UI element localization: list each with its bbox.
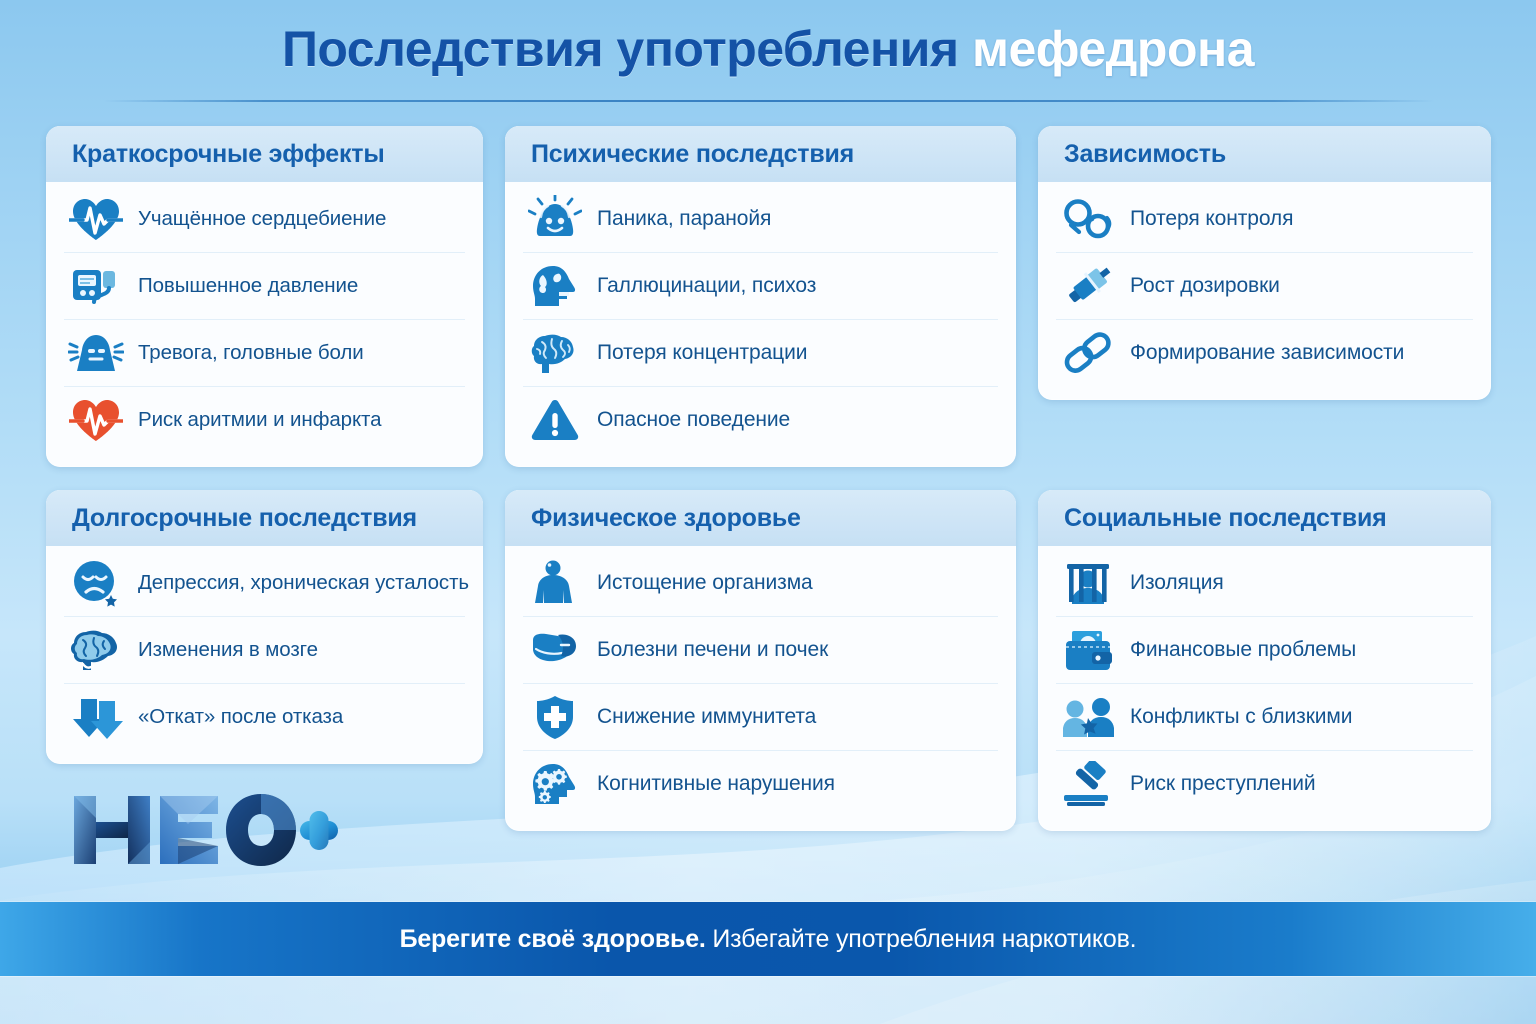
list-item[interactable]: Галлюцинации, психоз <box>523 253 998 320</box>
card-header: Социальные последствия <box>1038 490 1491 546</box>
card-long-term-consequences: Долгосрочные последствия Депрессия, хрон… <box>46 490 483 764</box>
logo-plus-sign <box>300 811 338 850</box>
panic-face-icon <box>527 193 583 245</box>
logo-letter-n <box>74 796 150 864</box>
list-item[interactable]: Потеря концентрации <box>523 320 998 387</box>
syringe-icon <box>1060 260 1116 312</box>
title-primary: Последствия употребления <box>282 21 959 77</box>
list-item[interactable]: Потеря контроля <box>1056 186 1473 253</box>
list-item[interactable]: Депрессия, хроническая усталость <box>64 550 465 617</box>
list-item[interactable]: Риск преступлений <box>1056 751 1473 817</box>
list-item-label: Галлюцинации, психоз <box>597 274 816 298</box>
list-item[interactable]: Финансовые проблемы <box>1056 617 1473 684</box>
list-item[interactable]: Паника, паранойя <box>523 186 998 253</box>
list-item-label: Конфликты с близкими <box>1130 705 1352 729</box>
hallucination-head-icon <box>527 260 583 312</box>
handcuffs-icon <box>1060 193 1116 245</box>
card-header: Психические последствия <box>505 126 1016 182</box>
list-item[interactable]: Изоляция <box>1056 550 1473 617</box>
list-item-label: Риск аритмии и инфаркта <box>138 408 381 432</box>
card-header: Долгосрочные последствия <box>46 490 483 546</box>
card-social-consequences: Социальные последствия <box>1038 490 1491 831</box>
list-item[interactable]: «Откат» после отказа <box>64 684 465 750</box>
card-title: Физическое здоровье <box>531 504 1016 533</box>
logo-letter-o <box>226 794 296 866</box>
card-physical-health: Физическое здоровье Истощение организма <box>505 490 1016 831</box>
card-body: Истощение организма Болезни печени и поч… <box>505 546 1016 831</box>
sad-face-icon <box>68 557 124 609</box>
down-arrows-icon <box>68 691 124 743</box>
shield-cross-icon <box>527 691 583 743</box>
list-item-label: Изоляция <box>1130 571 1224 595</box>
page-title: Последствия употребления мефедрона <box>0 22 1536 76</box>
chain-link-icon <box>1060 327 1116 379</box>
list-item-label: «Откат» после отказа <box>138 705 343 729</box>
list-item-label: Тревога, головные боли <box>138 341 364 365</box>
list-item-label: Формирование зависимости <box>1130 341 1404 365</box>
card-title: Зависимость <box>1064 140 1491 169</box>
list-item[interactable]: Повышенное давление <box>64 253 465 320</box>
card-header: Зависимость <box>1038 126 1491 182</box>
list-item[interactable]: Болезни печени и почек <box>523 617 998 684</box>
list-item-label: Учащённое сердцебиение <box>138 207 386 231</box>
title-divider <box>104 100 1434 102</box>
card-addiction: Зависимость Потеря контроля <box>1038 126 1491 400</box>
list-item[interactable]: Конфликты с близкими <box>1056 684 1473 751</box>
list-item[interactable]: Когнитивные нарушения <box>523 751 998 817</box>
list-item[interactable]: Опасное поведение <box>523 387 998 453</box>
head-gears-icon <box>527 758 583 810</box>
list-item-label: Болезни печени и почек <box>597 638 828 662</box>
list-item-label: Потеря концентрации <box>597 341 807 365</box>
card-short-term-effects: Краткосрочные эффекты Учащённое сердцеби… <box>46 126 483 467</box>
liver-kidney-icon <box>527 624 583 676</box>
person-behind-bars-icon <box>1060 557 1116 609</box>
list-item-label: Изменения в мозге <box>138 638 318 662</box>
list-item-label: Риск преступлений <box>1130 772 1316 796</box>
list-item-label: Паника, паранойя <box>597 207 771 231</box>
title-highlight: мефедрона <box>972 21 1254 77</box>
list-item[interactable]: Риск аритмии и инфаркта <box>64 387 465 453</box>
list-item[interactable]: Рост дозировки <box>1056 253 1473 320</box>
card-header: Физическое здоровье <box>505 490 1016 546</box>
card-title: Социальные последствия <box>1064 504 1491 533</box>
brain-damage-icon <box>68 624 124 676</box>
warning-triangle-icon <box>527 394 583 446</box>
list-item[interactable]: Формирование зависимости <box>1056 320 1473 386</box>
card-body: Потеря контроля Рост дозировки <box>1038 182 1491 400</box>
list-item-label: Когнитивные нарушения <box>597 772 835 796</box>
list-item-label: Депрессия, хроническая усталость <box>138 571 469 595</box>
list-item-label: Истощение организма <box>597 571 813 595</box>
list-item-label: Опасное поведение <box>597 408 790 432</box>
list-item-label: Потеря контроля <box>1130 207 1293 231</box>
heart-pulse-red-icon <box>68 394 124 446</box>
list-item-label: Снижение иммунитета <box>597 705 816 729</box>
brand-logo[interactable] <box>68 790 340 877</box>
list-item-label: Повышенное давление <box>138 274 358 298</box>
gavel-icon <box>1060 758 1116 810</box>
card-title: Краткосрочные эффекты <box>72 140 483 169</box>
heart-pulse-icon <box>68 193 124 245</box>
footer-regular-text: Избегайте употребления наркотиков. <box>712 925 1136 953</box>
blood-pressure-monitor-icon <box>68 260 124 312</box>
card-mental-consequences: Психические последствия <box>505 126 1016 467</box>
card-body: Депрессия, хроническая усталость <box>46 546 483 764</box>
cards-grid: Краткосрочные эффекты Учащённое сердцеби… <box>46 126 1490 831</box>
card-body: Учащённое сердцебиение Повышенное <box>46 182 483 467</box>
logo-letter-e <box>160 796 218 864</box>
list-item-label: Финансовые проблемы <box>1130 638 1356 662</box>
card-title: Долгосрочные последствия <box>72 504 483 533</box>
footer-bold-text: Берегите своё здоровье. <box>400 925 706 953</box>
footer-banner: Берегите своё здоровье. Избегайте употре… <box>0 902 1536 976</box>
headache-person-icon <box>68 327 124 379</box>
conflict-people-icon <box>1060 691 1116 743</box>
list-item[interactable]: Учащённое сердцебиение <box>64 186 465 253</box>
card-title: Психические последствия <box>531 140 1016 169</box>
list-item[interactable]: Изменения в мозге <box>64 617 465 684</box>
list-item[interactable]: Снижение иммунитета <box>523 684 998 751</box>
thin-person-icon <box>527 557 583 609</box>
card-body: Изоляция Финансовые проблемы <box>1038 546 1491 831</box>
card-header: Краткосрочные эффекты <box>46 126 483 182</box>
list-item-label: Рост дозировки <box>1130 274 1280 298</box>
list-item[interactable]: Тревога, головные боли <box>64 320 465 387</box>
card-body: Паника, паранойя Галлюцинации, психоз <box>505 182 1016 467</box>
brain-icon <box>527 327 583 379</box>
wallet-icon <box>1060 624 1116 676</box>
list-item[interactable]: Истощение организма <box>523 550 998 617</box>
